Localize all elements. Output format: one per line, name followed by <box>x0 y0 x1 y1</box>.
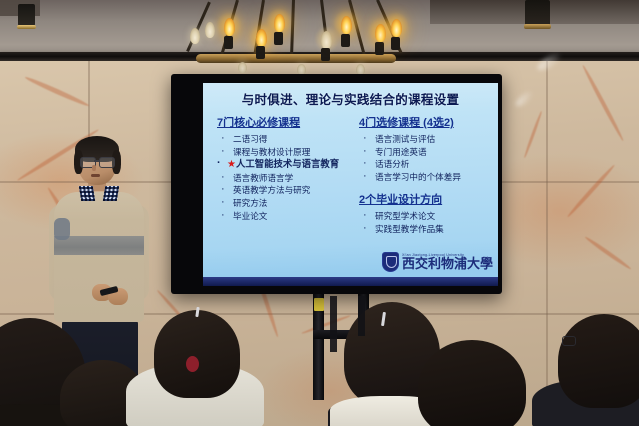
list-item: 毕业论文 <box>217 210 357 223</box>
attendee-head <box>418 340 526 426</box>
list-item-highlighted: ★人工智能技术与语言教育 <box>217 158 357 172</box>
right-column-heading-1: 4门选修课程 (4选2) <box>359 117 493 130</box>
edison-bulb <box>256 29 267 47</box>
edison-bulb <box>190 28 200 44</box>
marble-vein <box>581 64 625 142</box>
spot-light <box>18 4 35 26</box>
list-item-label: 人工智能技术与语言教育 <box>236 158 339 169</box>
presenter-collar-left <box>79 186 95 201</box>
edison-bulb <box>274 14 285 32</box>
pendant-light-glow <box>524 24 551 29</box>
bulb-socket <box>256 46 265 59</box>
left-column-heading: 7门核心必修课程 <box>217 117 357 130</box>
right-column-list-1: 语言测试与评估 专门用途英语 话语分析 语言学习中的个体差异 <box>359 133 493 183</box>
chandelier-beam <box>196 54 396 63</box>
tile-seam <box>546 61 548 426</box>
spacer <box>359 183 493 194</box>
list-item: 研究方法 <box>217 197 357 210</box>
list-item: 语言教师语言学 <box>217 172 357 185</box>
university-logo: Xi'an Jiaotong-Liverpool University 西交利物… <box>382 252 493 272</box>
list-item: 研究型学术论文 <box>359 210 493 223</box>
bulb-socket <box>391 37 400 50</box>
right-column-list-2: 研究型学术论文 实践型教学作品集 <box>359 210 493 235</box>
attendee-head <box>558 314 639 408</box>
logo-text-block: Xi'an Jiaotong-Liverpool University 西交利物… <box>402 253 493 272</box>
bulb-socket <box>321 48 330 61</box>
crest-icon <box>382 252 399 272</box>
right-column-heading-2: 2个毕业设计方向 <box>359 194 493 207</box>
logo-chinese-name: 西交利物浦大學 <box>402 258 493 272</box>
edison-bulb <box>375 24 386 42</box>
presenter-sweater <box>54 192 144 322</box>
slide-title: 与时俱进、理论与实践结合的课程设置 <box>203 89 498 108</box>
pendant-light <box>525 0 550 26</box>
list-item: 话语分析 <box>359 158 493 171</box>
presenter-collar-right <box>103 186 119 201</box>
marble-vein <box>584 235 632 270</box>
attendee-glasses <box>562 336 576 346</box>
edison-bulb <box>321 31 332 49</box>
list-item: 专门用途英语 <box>359 146 493 159</box>
slide-footer-band <box>203 277 498 286</box>
edison-bulb <box>205 22 215 38</box>
presenter-glasses-right-lens <box>99 157 115 168</box>
bulb-socket <box>375 42 384 55</box>
marble-vein <box>24 75 90 108</box>
edison-bulb <box>391 19 402 37</box>
marble-vein <box>566 164 616 219</box>
chair-post <box>330 296 337 352</box>
edison-bulb <box>341 16 352 34</box>
list-item: 语言学习中的个体差异 <box>359 171 493 184</box>
wall-highlight <box>514 90 534 109</box>
edison-bulb <box>224 18 235 36</box>
marble-vein <box>523 110 543 158</box>
bulb-socket <box>341 34 350 47</box>
list-item: 语言测试与评估 <box>359 133 493 146</box>
list-item: 二语习得 <box>217 133 357 146</box>
presenter-sweater-shoulder-patch <box>54 218 70 240</box>
list-item: 实践型教学作品集 <box>359 223 493 236</box>
presenter-mouth <box>91 174 100 177</box>
bulb-socket <box>274 32 283 45</box>
edison-bulb-lower <box>238 62 247 73</box>
tv-stand-sticker <box>314 298 324 311</box>
slide-left-column: 7门核心必修课程 二语习得 课程与教材设计原理 ★人工智能技术与语言教育 语言教… <box>217 117 357 222</box>
list-item: 课程与教材设计原理 <box>217 146 357 159</box>
star-icon: ★ <box>227 159 236 170</box>
presenter-glasses-bridge <box>94 160 99 162</box>
list-item: 英语教学方法与研究 <box>217 184 357 197</box>
left-column-list: 二语习得 课程与教材设计原理 ★人工智能技术与语言教育 语言教师语言学 英语教学… <box>217 133 357 222</box>
chair-post <box>358 296 365 336</box>
bulb-socket <box>224 36 233 49</box>
slide-right-column: 4门选修课程 (4选2) 语言测试与评估 专门用途英语 话语分析 语言学习中的个… <box>359 117 493 236</box>
hair-tie <box>186 356 199 372</box>
spot-light-glow <box>17 25 36 29</box>
lecture-room-photo: 与时俱进、理论与实践结合的课程设置 7门核心必修课程 二语习得 课程与教材设计原… <box>0 0 639 426</box>
attendee-head <box>154 310 240 398</box>
presentation-slide[interactable]: 与时俱进、理论与实践结合的课程设置 7门核心必修课程 二语习得 课程与教材设计原… <box>203 83 498 286</box>
presenter-nose <box>92 165 96 171</box>
